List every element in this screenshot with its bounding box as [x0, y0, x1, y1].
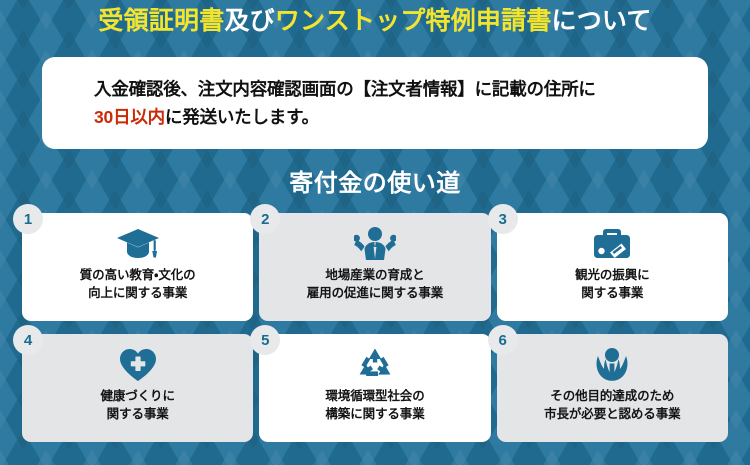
usage-card-2[interactable]: 2 地場産業の育成と 雇用の促進に関する事業 — [259, 213, 490, 321]
card-label-line-1: 健康づくりに — [100, 387, 174, 405]
card-number-badge: 6 — [488, 325, 518, 355]
usage-card-6[interactable]: 6 その他目的達成のため 市長が必要と認める事業 — [497, 334, 728, 442]
notice-line-2-rest: に発送いたします。 — [165, 107, 319, 127]
card-number-badge: 5 — [250, 325, 280, 355]
usage-card-3[interactable]: 3 観光の振興に 関する事業 — [497, 213, 728, 321]
section-heading: 寄付金の使い道 — [0, 163, 750, 198]
heart-plus-icon — [119, 347, 157, 383]
usage-card-label: 健康づくりに 関する事業 — [100, 387, 174, 423]
suitcase-icon — [591, 226, 633, 262]
recycle-icon — [356, 347, 394, 383]
card-label-line-1: 観光の振興に — [575, 266, 649, 284]
usage-card-label: 地場産業の育成と 雇用の促進に関する事業 — [307, 266, 443, 302]
graduation-cap-icon — [116, 226, 160, 262]
person-raising-arms-icon — [354, 226, 396, 262]
card-label-line-1: 地場産業の育成と — [307, 266, 443, 284]
usage-card-label: その他目的達成のため 市長が必要と認める事業 — [544, 387, 680, 423]
usage-card-label: 観光の振興に 関する事業 — [575, 266, 649, 302]
card-number-badge: 2 — [250, 204, 280, 234]
infographic-page: 受領証明書及びワンストップ特例申請書について 入金確認後、注文内容確認画面の【注… — [0, 0, 750, 465]
card-label-line-2: 関する事業 — [575, 284, 649, 302]
notice-line-1: 入金確認後、注文内容確認画面の【注文者情報】に記載の住所に — [94, 75, 708, 103]
usage-card-grid: 1 質の高い教育・文化の 向上に関する事業 2 — [22, 213, 728, 442]
card-label-line-2: 市長が必要と認める事業 — [544, 405, 680, 423]
card-label-line-1: 環境循環型社会の — [325, 387, 424, 405]
usage-card-4[interactable]: 4 健康づくりに 関する事業 — [22, 334, 253, 442]
card-label-line-1: 質の高い教育・文化の — [80, 266, 196, 284]
card-label-line-1: その他目的達成のため — [544, 387, 680, 405]
title-part-3: ワンストップ特例申請書 — [275, 7, 552, 35]
page-title: 受領証明書及びワンストップ特例申請書について — [0, 8, 750, 36]
usage-card-5[interactable]: 5 環境循環型社会の 構築に関する事業 — [259, 334, 490, 442]
usage-card-label: 質の高い教育・文化の 向上に関する事業 — [80, 266, 196, 302]
person-open-hands-icon — [594, 347, 630, 383]
usage-card-label: 環境循環型社会の 構築に関する事業 — [325, 387, 424, 423]
card-number-badge: 1 — [13, 204, 43, 234]
title-part-2: 及び — [224, 7, 274, 35]
card-label-line-2: 向上に関する事業 — [80, 284, 196, 302]
title-part-4: について — [552, 7, 652, 35]
card-label-line-2: 雇用の促進に関する事業 — [307, 284, 443, 302]
card-label-line-2: 構築に関する事業 — [325, 405, 424, 423]
usage-card-1[interactable]: 1 質の高い教育・文化の 向上に関する事業 — [22, 213, 253, 321]
notice-emphasis: 30日以内 — [94, 107, 165, 127]
notice-box: 入金確認後、注文内容確認画面の【注文者情報】に記載の住所に 30日以内に発送いた… — [42, 57, 708, 149]
notice-line-2: 30日以内に発送いたします。 — [94, 103, 708, 131]
card-label-line-2: 関する事業 — [100, 405, 174, 423]
card-number-badge: 3 — [488, 204, 518, 234]
card-number-badge: 4 — [13, 325, 43, 355]
title-part-1: 受領証明書 — [98, 7, 224, 35]
